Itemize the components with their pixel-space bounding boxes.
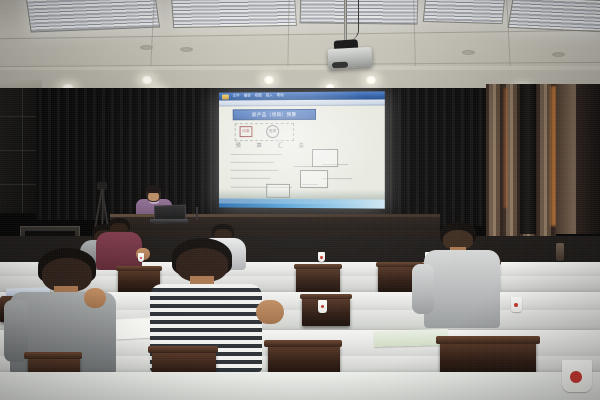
slide-headline-char-3: 汇 (278, 142, 284, 149)
presenter-face (148, 192, 159, 201)
paper-cup-1[interactable] (138, 253, 144, 262)
projector-cable (348, 0, 359, 40)
projector-mount-pole (344, 0, 347, 44)
slide-box-2 (300, 170, 328, 188)
slide-headline-char-2: 算 (257, 142, 263, 149)
downlight-6 (364, 76, 378, 84)
app-logo-icon (222, 94, 229, 99)
attendee-light-gray-torso (424, 250, 500, 328)
chair-row2-2[interactable] (296, 266, 340, 294)
attendee-gray-hand (84, 288, 106, 308)
smoke-detector-2 (180, 47, 193, 52)
fluorescent-panel-1 (26, 0, 160, 32)
fluorescent-panel-5 (508, 0, 600, 32)
attendee-maroon-torso (96, 232, 142, 270)
water-bottle[interactable] (556, 243, 564, 261)
fluorescent-panel-3 (300, 0, 419, 25)
presenter-hair (146, 185, 161, 193)
menu-item-insert[interactable]: 插入 (266, 95, 273, 98)
chair-front-3-rail (264, 340, 342, 347)
chair-front-2-rail (148, 346, 218, 353)
cup-logo-1 (140, 257, 142, 259)
smoke-detector-4 (552, 52, 565, 57)
right-wall-shadow (576, 84, 600, 234)
slide-box-1 (312, 149, 338, 167)
menu-item-view[interactable]: 视图 (255, 95, 262, 98)
downlight-4 (262, 76, 276, 84)
slide-text-line-1 (231, 154, 282, 155)
paper-cup-7[interactable] (511, 297, 522, 312)
slide-connector-2 (294, 166, 312, 167)
menu-item-file[interactable]: 文件 (233, 95, 240, 98)
paper-cup-6[interactable] (318, 300, 327, 313)
chair-front-4-rail (436, 336, 540, 344)
slide-text-line-2 (231, 162, 274, 163)
smoke-detector-3 (462, 50, 475, 55)
slide-text-line-3 (231, 170, 278, 171)
slide-title-banner: 新产品（项目）预算 (233, 109, 316, 120)
conference-table-front (0, 372, 600, 400)
paper-cup-foreground[interactable] (562, 360, 592, 392)
attendee-striped-arm (256, 300, 284, 324)
table-microphone (196, 207, 198, 220)
presenter-laptop-base (150, 219, 188, 223)
menu-item-help[interactable]: 帮助 (277, 94, 284, 97)
attendee-light-gray-arm (412, 264, 434, 314)
chair-front-1-rail (24, 352, 82, 359)
cup-logo-foreground (570, 371, 582, 383)
conference-room-photo: 文件 编辑 视图 插入 帮助 新产品（项目）预算 印章 签章 预 算 汇 总 (0, 0, 600, 400)
panel-seam-v (22, 88, 23, 213)
slide-headline-char-4: 总 (299, 142, 305, 149)
menu-item-edit[interactable]: 编辑 (244, 95, 251, 98)
slide-headline: 预 算 汇 总 (236, 142, 305, 149)
slide-headline-char-1: 预 (236, 142, 242, 149)
slide-stamp-round: 签章 (266, 125, 279, 138)
cup-logo-6 (321, 305, 324, 308)
projector-lens (332, 62, 348, 69)
chair-front-4[interactable] (440, 340, 536, 374)
curtain-light-leak-left (503, 88, 508, 208)
slide-toolbar (219, 99, 385, 106)
downlight-2 (140, 76, 154, 84)
slide-stamp-square: 印章 (240, 126, 253, 137)
chair-row3-2-rail (300, 294, 352, 299)
ceiling (0, 0, 600, 96)
fluorescent-panel-4 (423, 0, 506, 24)
fluorescent-panel-2 (171, 0, 297, 28)
curtain-dark-strip (520, 84, 536, 234)
blackout-drapes-right (386, 88, 486, 226)
smoke-detector-1 (140, 45, 153, 50)
paper-cup-2[interactable] (318, 252, 325, 262)
chair-row2-1-rail (116, 266, 162, 271)
cup-logo-7 (514, 303, 518, 307)
projection-screen[interactable]: 文件 编辑 视图 插入 帮助 新产品（项目）预算 印章 签章 预 算 汇 总 (219, 91, 385, 208)
chair-row2-2-rail (294, 264, 342, 269)
slide-title-text: 新产品（项目）预算 (252, 112, 297, 118)
cup-logo-2 (320, 256, 323, 259)
slide-text-line-4 (231, 178, 270, 179)
blackout-drapes-left (36, 88, 232, 220)
